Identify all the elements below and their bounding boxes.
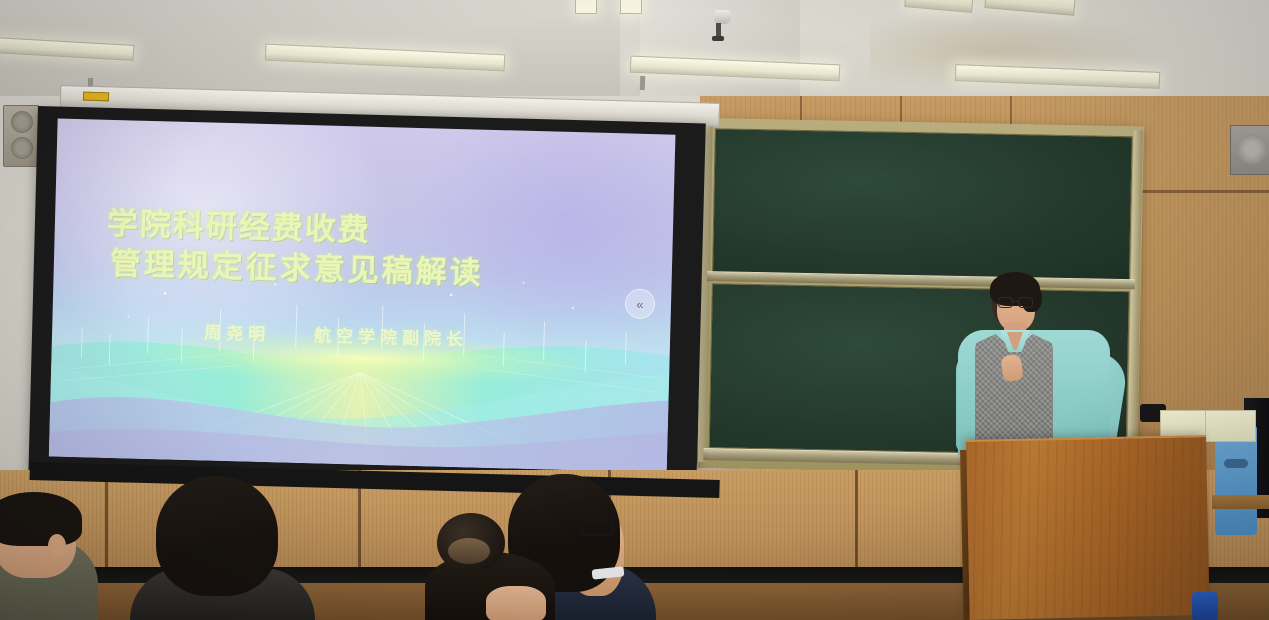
right-wood-wall-seam (1130, 190, 1269, 193)
slide-title: 学院科研经费收费 管理规定征求意见稿解读 (105, 204, 647, 298)
wall-speaker (3, 105, 39, 167)
wood-panel-seam-1 (105, 470, 108, 570)
side-desk (1212, 495, 1269, 509)
screen-mount-right (640, 76, 645, 90)
audience-3-scrunchie (448, 538, 490, 564)
audience-2-head (156, 476, 278, 596)
smoke-detector-base (712, 36, 724, 41)
smoke-detector-stem (716, 23, 721, 37)
audience-3-face (486, 586, 546, 620)
wood-panel-seam-4 (855, 470, 858, 570)
smoke-detector-icon (714, 10, 731, 24)
presenter-glasses (996, 297, 1036, 308)
audience-1-hair (0, 492, 82, 546)
audience-4-glasses (580, 520, 614, 536)
housing-warning-label (83, 92, 109, 102)
glasses-lens-left (998, 297, 1013, 308)
audience-1-ear (48, 534, 66, 558)
presenter-hand (1000, 354, 1023, 383)
ceiling-bulkhead (620, 0, 800, 108)
lecture-hall-photo: 学院科研经费收费 管理规定征求意见稿解读 周尧明 航空学院副院长 « (0, 0, 1269, 620)
blackboard-panel-top (712, 128, 1133, 281)
speaker-cone-top (11, 111, 33, 133)
projection-screen: 学院科研经费收费 管理规定征求意见稿解读 周尧明 航空学院副院长 « (28, 106, 706, 495)
podium (966, 435, 1210, 620)
glasses-lens-right (1018, 297, 1033, 308)
chevron-double-left-icon: « (636, 297, 644, 310)
air-conditioner (1230, 125, 1269, 175)
ceiling-light-far-1 (575, 0, 597, 14)
presenter-vest (975, 334, 1053, 454)
slide-surface: 学院科研经费收费 管理规定征求意见稿解读 周尧明 航空学院副院长 « (49, 119, 676, 473)
ceiling-light-far-2 (620, 0, 642, 14)
blue-cup (1192, 592, 1218, 620)
glasses-bridge (1013, 301, 1018, 302)
speaker-cone-bottom (11, 137, 33, 159)
